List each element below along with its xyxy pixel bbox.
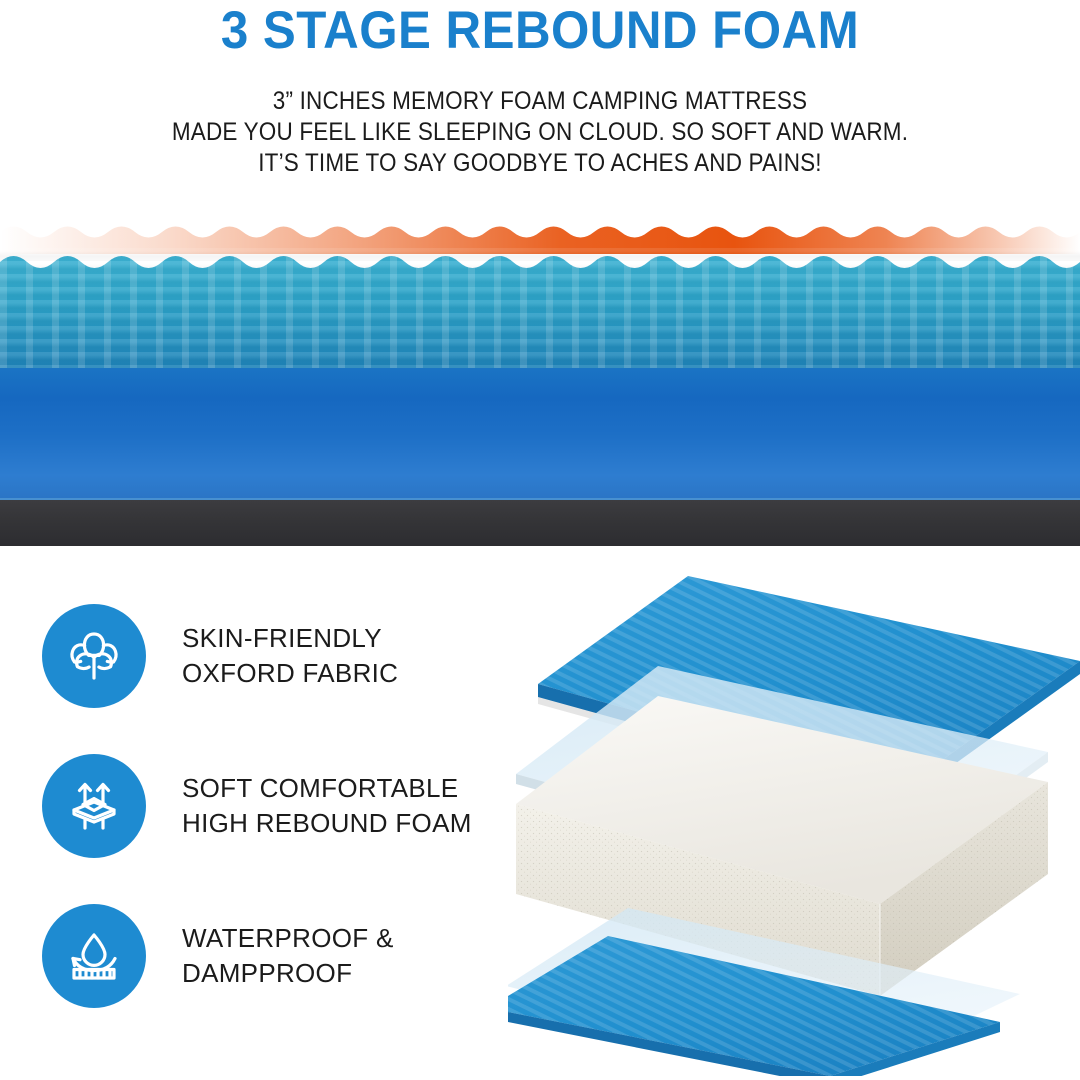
feature-label: SOFT COMFORTABLE HIGH REBOUND FOAM bbox=[182, 771, 472, 841]
subtitle-line-3: IT’S TIME TO SAY GOODBYE TO ACHES AND PA… bbox=[54, 148, 1026, 179]
subtitle-block: 3” INCHES MEMORY FOAM CAMPING MATTRESS M… bbox=[0, 86, 1080, 179]
feature-label: SKIN-FRIENDLY OXFORD FABRIC bbox=[182, 621, 398, 691]
waterproof-droplet-icon bbox=[42, 904, 146, 1008]
feature-label-line2: OXFORD FABRIC bbox=[182, 656, 398, 691]
rebound-foam-layers-icon bbox=[42, 754, 146, 858]
feature-label-line1: SKIN-FRIENDLY bbox=[182, 621, 398, 656]
feature-label-line1: SOFT COMFORTABLE bbox=[182, 771, 472, 806]
header-section: 3 STAGE REBOUND FOAM 3” INCHES MEMORY FO… bbox=[0, 0, 1080, 200]
subtitle-line-2: MADE YOU FEEL LIKE SLEEPING ON CLOUD. SO… bbox=[54, 117, 1026, 148]
feature-label-line1: WATERPROOF & bbox=[182, 921, 394, 956]
features-section: SKIN-FRIENDLY OXFORD FABRIC bbox=[0, 546, 1080, 1080]
feature-item-waterproof[interactable]: WATERPROOF & DAMPPROOF bbox=[42, 904, 512, 1008]
feature-item-high-rebound-foam[interactable]: SOFT COMFORTABLE HIGH REBOUND FOAM bbox=[42, 754, 512, 858]
feature-label-line2: HIGH REBOUND FOAM bbox=[182, 806, 472, 841]
feature-item-skin-friendly[interactable]: SKIN-FRIENDLY OXFORD FABRIC bbox=[42, 604, 512, 708]
product-photo-band: 3” FULL INFLATED bbox=[0, 200, 1080, 546]
feature-list: SKIN-FRIENDLY OXFORD FABRIC bbox=[42, 604, 512, 1008]
inflated-mattress bbox=[0, 248, 1080, 546]
mattress-side-wall bbox=[0, 368, 1080, 506]
exploded-layer-diagram bbox=[508, 556, 1080, 1076]
feature-label-line2: DAMPPROOF bbox=[182, 956, 394, 991]
subtitle-line-1: 3” INCHES MEMORY FOAM CAMPING MATTRESS bbox=[54, 86, 1026, 117]
mattress-baffle-texture bbox=[0, 248, 1080, 376]
cotton-boll-icon bbox=[42, 604, 146, 708]
feature-label: WATERPROOF & DAMPPROOF bbox=[182, 921, 394, 991]
layer-diagram-svg bbox=[508, 556, 1080, 1076]
mattress-base bbox=[0, 500, 1080, 546]
page-title: 3 STAGE REBOUND FOAM bbox=[38, 2, 1042, 60]
